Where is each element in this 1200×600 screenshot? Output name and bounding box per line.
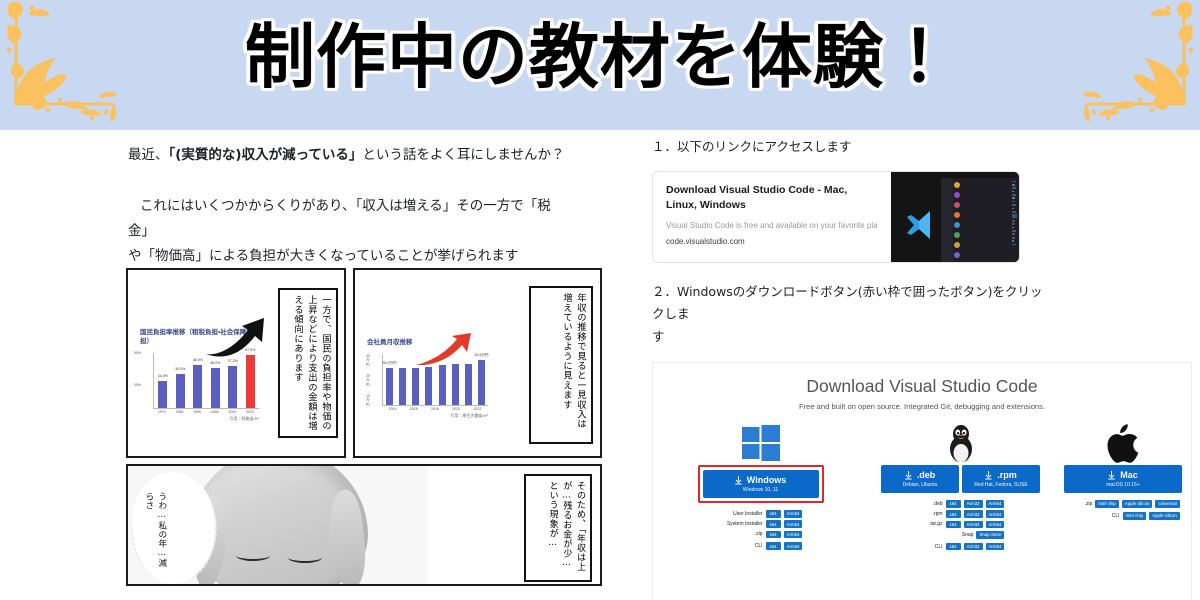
chip[interactable]: x64: [766, 542, 781, 550]
chart-1-xtick-3: 2000: [211, 410, 219, 414]
chip[interactable]: Universal: [1155, 500, 1179, 508]
chart-1-bar-3: 36.0%: [211, 368, 220, 408]
chart-1-bar-2: 38.4%: [193, 365, 202, 408]
chart-2-ytick-1: 20万円: [366, 374, 370, 388]
manga-panel-2: 会社員月収推移 30万円 20万円 10万円 30.0万円: [353, 268, 602, 458]
download-button-mac-row: Mac: [1064, 470, 1182, 480]
option-row: .deb x64 Arm32 Arm64: [917, 500, 1005, 508]
content-area: 最近、「(実質的な)収入が減っている」という話をよく耳にしませんか？ これにはい…: [0, 130, 1200, 600]
chart-1-xtick-5: 2022: [246, 410, 254, 414]
apple-logo-icon: [1106, 421, 1140, 465]
chip[interactable]: Arm64: [784, 542, 803, 550]
paragraph-line-2: や「物価高」による負担が大きくなっていることが挙げられます: [128, 248, 518, 264]
chip[interactable]: Arm64: [986, 500, 1005, 508]
chip[interactable]: Arm64: [986, 543, 1005, 551]
chart-2-xtick-3: 2020: [452, 407, 460, 411]
list-item: [954, 251, 1010, 260]
option-row: User Installer x64 Arm64: [719, 510, 803, 518]
chart-1-value-2: 38.4%: [193, 358, 203, 362]
vscode-logo-icon: [900, 208, 934, 242]
download-arrow-icon: [735, 476, 742, 485]
link-card-url: code.visualstudio.com: [666, 237, 879, 246]
chip[interactable]: x64: [946, 521, 961, 529]
chart-2-xtick-0: 2014: [389, 407, 397, 411]
download-button-mac[interactable]: Mac macOS 10.15+: [1064, 465, 1182, 493]
editor-code-pane: [1012, 181, 1017, 247]
manga-panel-3: うわ…私の年…減らさ そのため、「年収は上が…残るお金が少…という現象が…: [126, 464, 602, 586]
list-item: [954, 241, 1010, 250]
chart-2-bar-0: 30.0万円: [386, 368, 393, 405]
body-paragraph: これにはいくつかからくりがあり、「収入は増える」その一方で「税金」 や「物価高」…: [128, 194, 576, 269]
chart-1-bar-0: 24.3%: [158, 381, 167, 408]
option-label: CLI: [917, 544, 943, 550]
list-item: [954, 201, 1010, 210]
mac-options: .zip Intel chip Apple silicon Universal …: [1066, 500, 1180, 522]
chip[interactable]: x64: [946, 510, 961, 518]
download-button-rpm-row: .rpm: [962, 470, 1040, 480]
speech-bubble-text: うわ…私の年…減らさ: [142, 492, 168, 570]
chart-1-value-4: 37.2%: [228, 359, 238, 363]
deb-button-wrap: .deb Debian, Ubuntu: [881, 465, 959, 493]
character-eye-left: [236, 550, 270, 561]
linux-tux-logo-icon: [946, 421, 976, 465]
link-card-description: Visual Studio Code is free and available…: [666, 220, 879, 231]
chart-2-xtick-2: 2018: [431, 407, 439, 411]
platform-column-windows: Windows Windows 10, 11 User Installer x6…: [653, 421, 868, 553]
chip[interactable]: x64: [766, 520, 781, 528]
chart-2-value-0: 30.0万円: [382, 361, 396, 366]
manga-girl-face: うわ…私の年…減らさ: [128, 466, 428, 584]
left-column: 最近、「(実質的な)収入が減っている」という話をよく耳にしませんか？ これにはい…: [128, 144, 598, 269]
lead-suffix: という話をよく耳にしませんか？: [362, 147, 564, 163]
list-item: [954, 211, 1010, 220]
chip[interactable]: x64: [766, 510, 781, 518]
option-row: System Installer x64 Arm64: [719, 520, 803, 528]
option-row: Snap Snap Store: [917, 531, 1005, 539]
chip[interactable]: Arm64: [784, 531, 803, 539]
chart-1-xtick-1: 1980: [175, 410, 183, 414]
option-row: CLI x64 Arm64: [719, 542, 803, 550]
download-arrow-icon: [985, 471, 992, 480]
manga-caption-2: 年収の推移で見ると一見収入は増えているように見えます: [529, 286, 593, 444]
chart-2-x-axis: 2014 2016 2018 2020 2022: [382, 407, 488, 411]
chart-2-bar-7: 32.6万円: [478, 360, 485, 405]
chart-1-bar-4: 37.2%: [228, 366, 237, 408]
chart-1-ytick-0: 50%: [134, 351, 141, 355]
option-row: .zip Intel chip Apple silicon Universal: [1066, 500, 1180, 508]
shot-title: Download Visual Studio Code: [653, 376, 1191, 397]
list-item: [954, 221, 1010, 230]
black-up-arrow-icon: [204, 316, 270, 358]
chip[interactable]: Arm64: [986, 521, 1005, 529]
download-button-rpm[interactable]: .rpm Red Hat, Fedora, SUSE: [962, 465, 1040, 493]
chart-1-value-3: 36.0%: [210, 361, 220, 365]
list-item: [954, 261, 1010, 262]
chip[interactable]: x64: [766, 531, 781, 539]
windows-logo-icon: [741, 421, 781, 465]
download-button-windows-row: Windows: [703, 475, 819, 485]
platform-row: Windows Windows 10, 11 User Installer x6…: [653, 421, 1191, 553]
chart-2-bar-3: [425, 367, 432, 405]
chart-1-xtick-2: 1990: [193, 410, 201, 414]
vscode-download-page-screenshot: Download Visual Studio Code Free and bui…: [652, 362, 1192, 600]
editor-screenshot: [941, 178, 1019, 262]
list-item: [954, 191, 1010, 200]
list-item: [954, 181, 1010, 190]
chart-1-value-0: 24.3%: [158, 374, 168, 378]
rpm-button-wrap: .rpm Red Hat, Fedora, SUSE: [962, 465, 1040, 493]
option-label: CLI: [1094, 513, 1120, 519]
manga-caption-1: 一方で、国民の負担率や物価の上昇などにより支出の金額は増える傾向にあります: [278, 288, 338, 438]
lead-sentence: 最近、「(実質的な)収入が減っている」という話をよく耳にしませんか？: [128, 144, 598, 168]
download-button-deb-row: .deb: [881, 470, 959, 480]
manga-row-top: 国民負担率推移（租税負担・社会保障負担） 50% 20% 24.3% 30.5%: [126, 268, 604, 458]
page-root: 制作中の教材を体験！ 最近、「(実質的な)収入が減っている」という話をよく耳にし…: [0, 0, 1200, 600]
chart-2-ytick-0: 30万円: [366, 354, 370, 368]
download-button-windows-label: Windows: [747, 475, 786, 485]
editor-activity-bar: [941, 178, 953, 262]
option-label: .zip: [1066, 501, 1092, 507]
character-eye-right: [288, 552, 322, 563]
download-button-mac-sub: macOS 10.15+: [1064, 482, 1182, 488]
windows-options: User Installer x64 Arm64 System Installe…: [719, 510, 803, 553]
option-label: User Installer: [719, 511, 763, 517]
list-item: [954, 231, 1010, 240]
chip[interactable]: Arm64: [784, 510, 803, 518]
chart-2-value-7: 32.6万円: [474, 353, 488, 358]
lead-bold-phrase: 「(実質的な)収入が減っている」: [169, 147, 363, 163]
download-arrow-icon: [905, 471, 912, 480]
chart-1-x-axis: 1970 1980 1990 2000 2010 2022: [153, 410, 259, 414]
download-button-deb[interactable]: .deb Debian, Ubuntu: [881, 465, 959, 493]
chart-2-bar-5: [452, 364, 459, 405]
option-label: .deb: [917, 501, 943, 507]
chip[interactable]: Snap Store: [976, 531, 1004, 539]
chart-2-bar-4: [439, 365, 446, 405]
chart-2-bar-2: [412, 368, 419, 405]
shot-subtitle: Free and built on open source. Integrate…: [653, 402, 1191, 411]
download-button-windows[interactable]: Windows Windows 10, 11: [703, 470, 819, 498]
platform-column-linux: .deb Debian, Ubuntu .rpm: [868, 421, 1053, 553]
chart-2-ytick-2: 10万円: [366, 394, 370, 408]
chart-1-citation: 引用：財務省HP: [153, 416, 259, 422]
chip[interactable]: Intel chip: [1095, 500, 1119, 508]
option-row: CLI x64 Arm32 Arm64: [917, 543, 1005, 551]
paragraph-line-1: これにはいくつかからくりがあり、「収入は増える」その一方で「税金」: [128, 198, 551, 239]
download-arrow-icon: [1108, 471, 1115, 480]
option-row: .zip x64 Arm64: [719, 531, 803, 539]
download-button-deb-sub: Debian, Ubuntu: [881, 482, 959, 488]
chart-1-bar-1: 30.5%: [176, 374, 185, 408]
linux-download-buttons: .deb Debian, Ubuntu .rpm: [881, 465, 1040, 493]
download-button-mac-label: Mac: [1120, 470, 1138, 480]
chart-2-citation: 引用：厚生労働省HP: [382, 413, 488, 419]
download-button-windows-sub: Windows 10, 11: [703, 487, 819, 493]
chart-2-xtick-1: 2016: [410, 407, 418, 411]
chip[interactable]: Apple silicon: [1122, 500, 1153, 508]
download-button-rpm-sub: Red Hat, Fedora, SUSE: [962, 482, 1040, 488]
editor-explorer-list: [954, 181, 1010, 262]
chip[interactable]: Arm32: [964, 543, 983, 551]
chart-2-bar-6: [465, 364, 472, 405]
chart-1-xtick-0: 1970: [158, 410, 166, 414]
mac-button-wrap: Mac macOS 10.15+: [1064, 465, 1182, 493]
option-label: System Installer: [719, 521, 763, 527]
option-label: Snap: [947, 532, 973, 538]
chip[interactable]: Arm64: [784, 520, 803, 528]
chip[interactable]: x64: [946, 500, 961, 508]
chip[interactable]: Arm32: [964, 500, 983, 508]
step-1-text: １．以下のリンクにアクセスします: [652, 136, 1050, 159]
chip[interactable]: Intel chip: [1123, 512, 1147, 520]
windows-download-highlight-box: Windows Windows 10, 11: [698, 465, 824, 503]
manga-panel-1: 国民負担率推移（租税負担・社会保障負担） 50% 20% 24.3% 30.5%: [126, 268, 346, 458]
option-label: CLI: [719, 543, 763, 549]
linux-options: .deb x64 Arm32 Arm64 .rpm x64 Arm32 Arm6…: [917, 500, 1005, 553]
chip[interactable]: x64: [946, 543, 961, 551]
link-card-thumbnail: [891, 172, 1019, 262]
lead-prefix: 最近、: [128, 147, 169, 163]
header-banner: 制作中の教材を体験！: [0, 0, 1200, 130]
manga-caption-3: そのため、「年収は上が…残るお金が少…という現象が…: [524, 474, 592, 582]
chart-1-bars: 24.3% 30.5% 38.4% 36.0% 37.2% 47.5%: [154, 353, 259, 408]
option-row: .rpm x64 Arm32 Arm64: [917, 510, 1005, 518]
chart-1-plot: 24.3% 30.5% 38.4% 36.0% 37.2% 47.5%: [153, 353, 259, 409]
link-card-body: Download Visual Studio Code - Mac, Linux…: [653, 172, 891, 262]
chart-1-xtick-4: 2010: [228, 410, 236, 414]
step-2-text: ２．Windowsのダウンロードボタン(赤い枠で囲ったボタン)をクリックしま す: [652, 281, 1050, 349]
manga-strip: 国民負担率推移（租税負担・社会保障負担） 50% 20% 24.3% 30.5%: [126, 268, 604, 588]
link-card-title: Download Visual Studio Code - Mac, Linux…: [666, 183, 879, 213]
option-row: .tar.gz x64 Arm32 Arm64: [917, 521, 1005, 529]
chip[interactable]: Apple silicon: [1149, 512, 1180, 520]
platform-column-mac: Mac macOS 10.15+ .zip Intel chip Apple s…: [1053, 421, 1192, 553]
red-up-arrow-icon: [413, 332, 475, 368]
download-button-rpm-label: .rpm: [997, 470, 1017, 480]
chart-2-bar-1: [399, 368, 406, 405]
right-column: １．以下のリンクにアクセスします Download Visual Studio …: [652, 136, 1197, 600]
option-label: .tar.gz: [917, 521, 943, 527]
chart-1-ytick-1: 20%: [134, 383, 141, 387]
link-preview-card[interactable]: Download Visual Studio Code - Mac, Linux…: [652, 171, 1020, 263]
chart-2-xtick-4: 2022: [473, 407, 481, 411]
option-label: .zip: [719, 531, 763, 537]
option-label: .rpm: [917, 511, 943, 517]
chart-1-bar-5: 47.5%: [246, 355, 255, 408]
chip[interactable]: Arm32: [964, 510, 983, 518]
option-row: CLI Intel chip Apple silicon: [1066, 512, 1180, 520]
chip[interactable]: Arm32: [964, 521, 983, 529]
chart-1-value-1: 30.5%: [175, 367, 185, 371]
page-title: 制作中の教材を体験！: [0, 21, 1200, 95]
download-button-deb-label: .deb: [917, 470, 936, 480]
chip[interactable]: Arm64: [986, 510, 1005, 518]
